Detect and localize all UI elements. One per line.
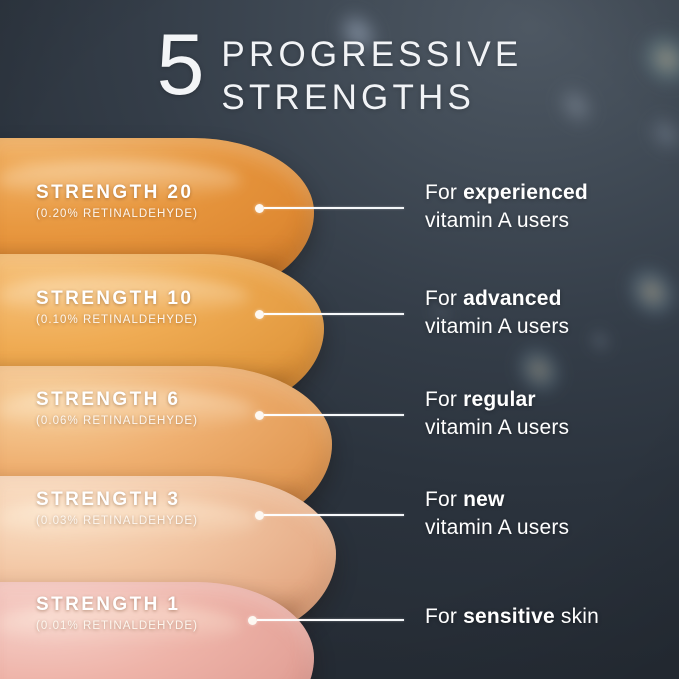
desc-line-2: vitamin A users bbox=[425, 414, 569, 442]
title-line-2: STRENGTHS bbox=[221, 77, 522, 120]
desc-prefix: For bbox=[425, 488, 463, 511]
strength-row-1: STRENGTH 1 (0.01% RETINALDEHYDE) For sen… bbox=[0, 595, 679, 665]
desc-prefix: For bbox=[425, 388, 463, 411]
title-line-1: PROGRESSIVE bbox=[221, 34, 522, 77]
desc-line-2: vitamin A users bbox=[425, 313, 569, 341]
connector-line-3 bbox=[255, 510, 404, 520]
strength-concentration: (0.20% RETINALDEHYDE) bbox=[36, 207, 198, 221]
strength-concentration: (0.06% RETINALDEHYDE) bbox=[36, 414, 198, 428]
strength-concentration: (0.01% RETINALDEHYDE) bbox=[36, 619, 198, 633]
strength-label: STRENGTH 6 bbox=[36, 390, 198, 411]
strength-concentration: (0.03% RETINALDEHYDE) bbox=[36, 514, 198, 528]
strength-label-block-6: STRENGTH 6 (0.06% RETINALDEHYDE) bbox=[36, 390, 198, 428]
strength-label-block-20: STRENGTH 20 (0.20% RETINALDEHYDE) bbox=[36, 183, 198, 221]
connector-dot-icon bbox=[248, 616, 257, 625]
connector-rule bbox=[264, 514, 404, 516]
strength-row-6: STRENGTH 6 (0.06% RETINALDEHYDE) For reg… bbox=[0, 390, 679, 460]
desc-emphasis: advanced bbox=[463, 287, 561, 310]
strength-label: STRENGTH 10 bbox=[36, 289, 198, 310]
page-title: PROGRESSIVE STRENGTHS bbox=[221, 28, 522, 119]
infographic-poster: 5 PROGRESSIVE STRENGTHS bbox=[0, 0, 679, 679]
desc-prefix: For bbox=[425, 605, 463, 628]
strength-description-1: For sensitive skin bbox=[425, 603, 599, 631]
poster-header: 5 PROGRESSIVE STRENGTHS bbox=[0, 28, 679, 119]
connector-rule bbox=[264, 414, 404, 416]
connector-rule bbox=[264, 313, 404, 315]
connector-line-1 bbox=[248, 615, 404, 625]
desc-line-2: vitamin A users bbox=[425, 514, 569, 542]
strength-concentration: (0.10% RETINALDEHYDE) bbox=[36, 313, 198, 327]
strength-description-3: For new vitamin A users bbox=[425, 486, 569, 541]
strength-row-3: STRENGTH 3 (0.03% RETINALDEHYDE) For new… bbox=[0, 490, 679, 560]
connector-dot-icon bbox=[255, 204, 264, 213]
connector-line-6 bbox=[255, 410, 404, 420]
connector-rule bbox=[264, 207, 404, 209]
strength-label: STRENGTH 3 bbox=[36, 490, 198, 511]
connector-line-10 bbox=[255, 309, 404, 319]
desc-line-2: vitamin A users bbox=[425, 207, 588, 235]
headline-number: 5 bbox=[157, 30, 204, 101]
connector-line-20 bbox=[255, 203, 404, 213]
strength-label-block-10: STRENGTH 10 (0.10% RETINALDEHYDE) bbox=[36, 289, 198, 327]
desc-emphasis: new bbox=[463, 488, 504, 511]
strength-row-20: STRENGTH 20 (0.20% RETINALDEHYDE) For ex… bbox=[0, 183, 679, 253]
desc-emphasis: sensitive bbox=[463, 605, 555, 628]
strength-label-block-1: STRENGTH 1 (0.01% RETINALDEHYDE) bbox=[36, 595, 198, 633]
connector-dot-icon bbox=[255, 411, 264, 420]
connector-rule bbox=[257, 619, 404, 621]
connector-dot-icon bbox=[255, 511, 264, 520]
strength-description-6: For regular vitamin A users bbox=[425, 386, 569, 441]
strength-label: STRENGTH 20 bbox=[36, 183, 198, 204]
strength-row-10: STRENGTH 10 (0.10% RETINALDEHYDE) For ad… bbox=[0, 289, 679, 359]
connector-dot-icon bbox=[255, 310, 264, 319]
desc-prefix: For bbox=[425, 181, 463, 204]
desc-emphasis: experienced bbox=[463, 181, 588, 204]
desc-prefix: For bbox=[425, 287, 463, 310]
strength-label: STRENGTH 1 bbox=[36, 595, 198, 616]
strength-description-20: For experienced vitamin A users bbox=[425, 179, 588, 234]
strength-label-block-3: STRENGTH 3 (0.03% RETINALDEHYDE) bbox=[36, 490, 198, 528]
desc-suffix: skin bbox=[555, 605, 599, 628]
desc-emphasis: regular bbox=[463, 388, 536, 411]
strength-description-10: For advanced vitamin A users bbox=[425, 285, 569, 340]
